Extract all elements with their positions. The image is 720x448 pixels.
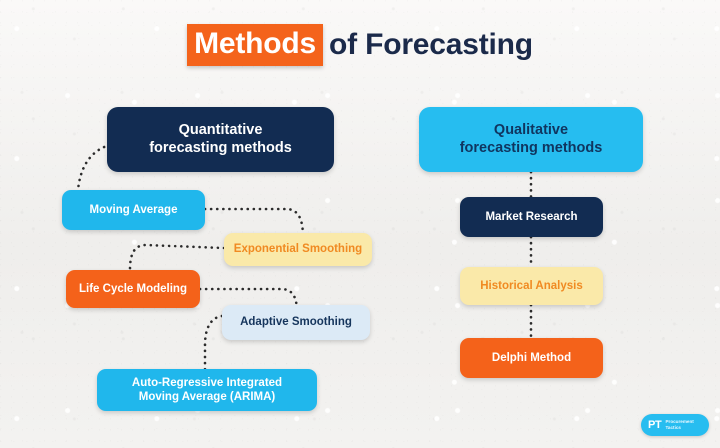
node-exponential-smoothing[interactable]: Exponential Smoothing — [224, 233, 372, 266]
node-quantitative-header-line2: forecasting methods — [149, 140, 292, 156]
logo-wordmark-line1: Procurement — [665, 419, 693, 424]
connector-exponential-to-life-cycle — [130, 245, 224, 270]
logo-wordmark: Procurement Tactics — [661, 419, 693, 431]
logo-mark-pt: PT — [641, 419, 661, 431]
node-arima-line1: Auto-Regressive Integrated — [132, 377, 282, 389]
node-moving-average-label: Moving Average — [90, 203, 178, 217]
node-arima[interactable]: Auto-Regressive Integrated Moving Averag… — [97, 369, 317, 411]
node-qualitative-header[interactable]: Qualitative forecasting methods — [419, 107, 643, 172]
node-moving-average[interactable]: Moving Average — [62, 190, 205, 230]
node-adaptive-smoothing-label: Adaptive Smoothing — [240, 315, 352, 329]
node-quantitative-header[interactable]: Quantitative forecasting methods — [107, 107, 334, 172]
node-quantitative-header-line1: Quantitative — [179, 122, 263, 138]
connector-adaptive-to-arima — [205, 316, 222, 375]
brand-logo[interactable]: PT Procurement Tactics — [641, 414, 709, 436]
infographic-canvas: Methodsof Forecasting Quantitative forec… — [0, 0, 720, 448]
node-qualitative-header-line2: forecasting methods — [460, 140, 603, 156]
node-historical-analysis[interactable]: Historical Analysis — [460, 267, 603, 305]
node-market-research-label: Market Research — [485, 210, 577, 224]
node-life-cycle-modeling[interactable]: Life Cycle Modeling — [66, 270, 200, 308]
node-delphi-method[interactable]: Delphi Method — [460, 338, 603, 378]
node-market-research[interactable]: Market Research — [460, 197, 603, 237]
node-delphi-method-label: Delphi Method — [492, 351, 571, 365]
node-adaptive-smoothing[interactable]: Adaptive Smoothing — [222, 305, 370, 340]
node-exponential-smoothing-label: Exponential Smoothing — [234, 242, 362, 256]
node-qualitative-header-line1: Qualitative — [494, 122, 568, 138]
node-arima-line2: Moving Average (ARIMA) — [139, 391, 276, 403]
node-historical-analysis-label: Historical Analysis — [480, 279, 582, 293]
logo-wordmark-line2: Tactics — [665, 425, 681, 430]
node-life-cycle-modeling-label: Life Cycle Modeling — [79, 282, 187, 296]
